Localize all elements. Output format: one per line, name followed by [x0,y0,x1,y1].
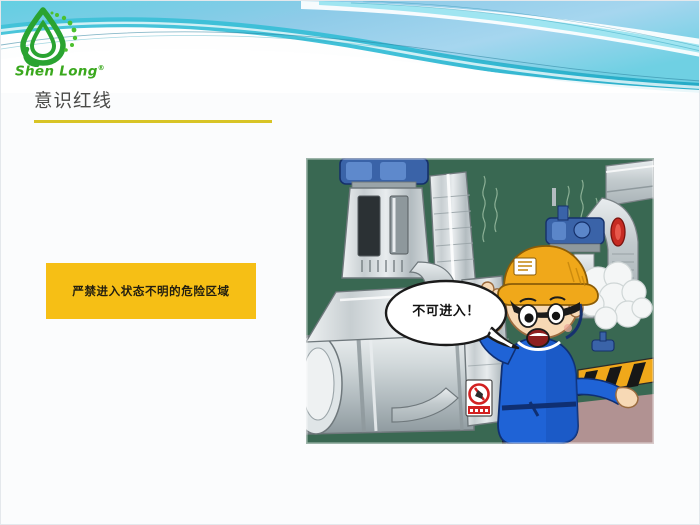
warning-callout-box: 严禁进入状态不明的危险区域 [46,263,256,319]
industrial-safety-cartoon: 不可进入！ [306,158,654,444]
logo-trademark: ® [98,64,105,72]
red-handwheel [611,218,625,246]
cartoon-scene [306,158,654,444]
page-title: 意识红线 [34,91,454,112]
slide-canvas: Shen Long® 意识红线 严禁进入状态不明的危险区域 [0,0,700,525]
title-underline [34,120,272,123]
warning-callout-text: 严禁进入状态不明的危险区域 [72,283,229,299]
title-zone: 意识红线 [34,91,454,123]
shen-long-logo: Shen Long® [13,7,109,85]
blue-motor-top [340,158,428,190]
logo-wordmark-text: Shen Long [15,64,98,80]
no-entry-prohibition-sign [466,380,492,416]
logo-wordmark: Shen Long® [15,65,105,79]
water-droplet-icon [13,7,83,67]
